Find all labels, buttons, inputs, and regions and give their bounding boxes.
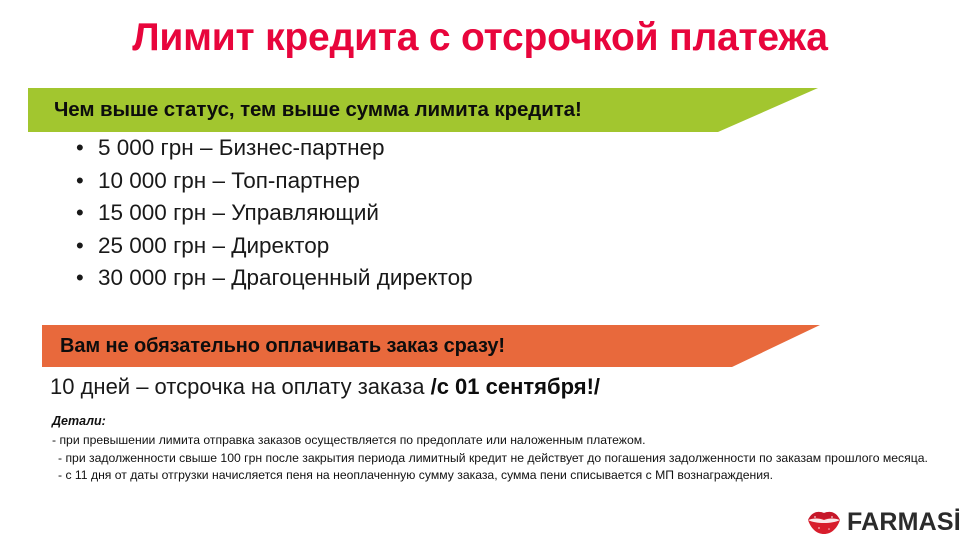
list-item: • 15 000 грн – Управляющий [74,197,473,230]
deferral-text: 10 дней – отсрочка на оплату заказа [50,374,431,399]
bullet-icon: • [76,197,84,230]
list-item-label: 10 000 грн – Топ-партнер [98,168,360,193]
details-block: Детали: - при превышении лимита отправка… [52,412,942,485]
list-item-label: 25 000 грн – Директор [98,233,329,258]
brand-logo-text: FARMASİ [847,509,960,535]
list-item: • 5 000 грн – Бизнес-партнер [74,132,473,165]
details-line: - при превышении лимита отправка заказов… [52,432,942,450]
list-item: • 25 000 грн – Директор [74,230,473,263]
credit-limit-list: • 5 000 грн – Бизнес-партнер • 10 000 гр… [74,132,473,295]
green-banner-label: Чем выше статус, тем выше сумма лимита к… [54,88,582,132]
bullet-icon: • [76,262,84,295]
list-item-label: 15 000 грн – Управляющий [98,200,379,225]
lips-icon [806,509,842,535]
bullet-icon: • [76,230,84,263]
page-title: Лимит кредита с отсрочкой платежа [0,14,960,62]
orange-banner: Вам не обязательно оплачивать заказ сраз… [42,325,820,367]
details-line: - при задолженности свыше 100 грн после … [52,450,942,468]
bullet-icon: • [76,165,84,198]
deferral-note: 10 дней – отсрочка на оплату заказа /с 0… [50,372,600,402]
bullet-icon: • [76,132,84,165]
green-banner: Чем выше статус, тем выше сумма лимита к… [28,88,818,132]
list-item-label: 5 000 грн – Бизнес-партнер [98,135,385,160]
deferral-date-emphasis: /с 01 сентября!/ [431,374,600,399]
orange-banner-label: Вам не обязательно оплачивать заказ сраз… [60,325,505,367]
list-item: • 30 000 грн – Драгоценный директор [74,262,473,295]
slide-canvas: Лимит кредита с отсрочкой платежа Чем вы… [0,0,960,540]
brand-logo: FARMASİ [806,505,956,539]
details-line: - с 11 дня от даты отгрузки начисляется … [52,467,942,485]
list-item: • 10 000 грн – Топ-партнер [74,165,473,198]
list-item-label: 30 000 грн – Драгоценный директор [98,265,473,290]
details-heading: Детали: [52,412,942,430]
